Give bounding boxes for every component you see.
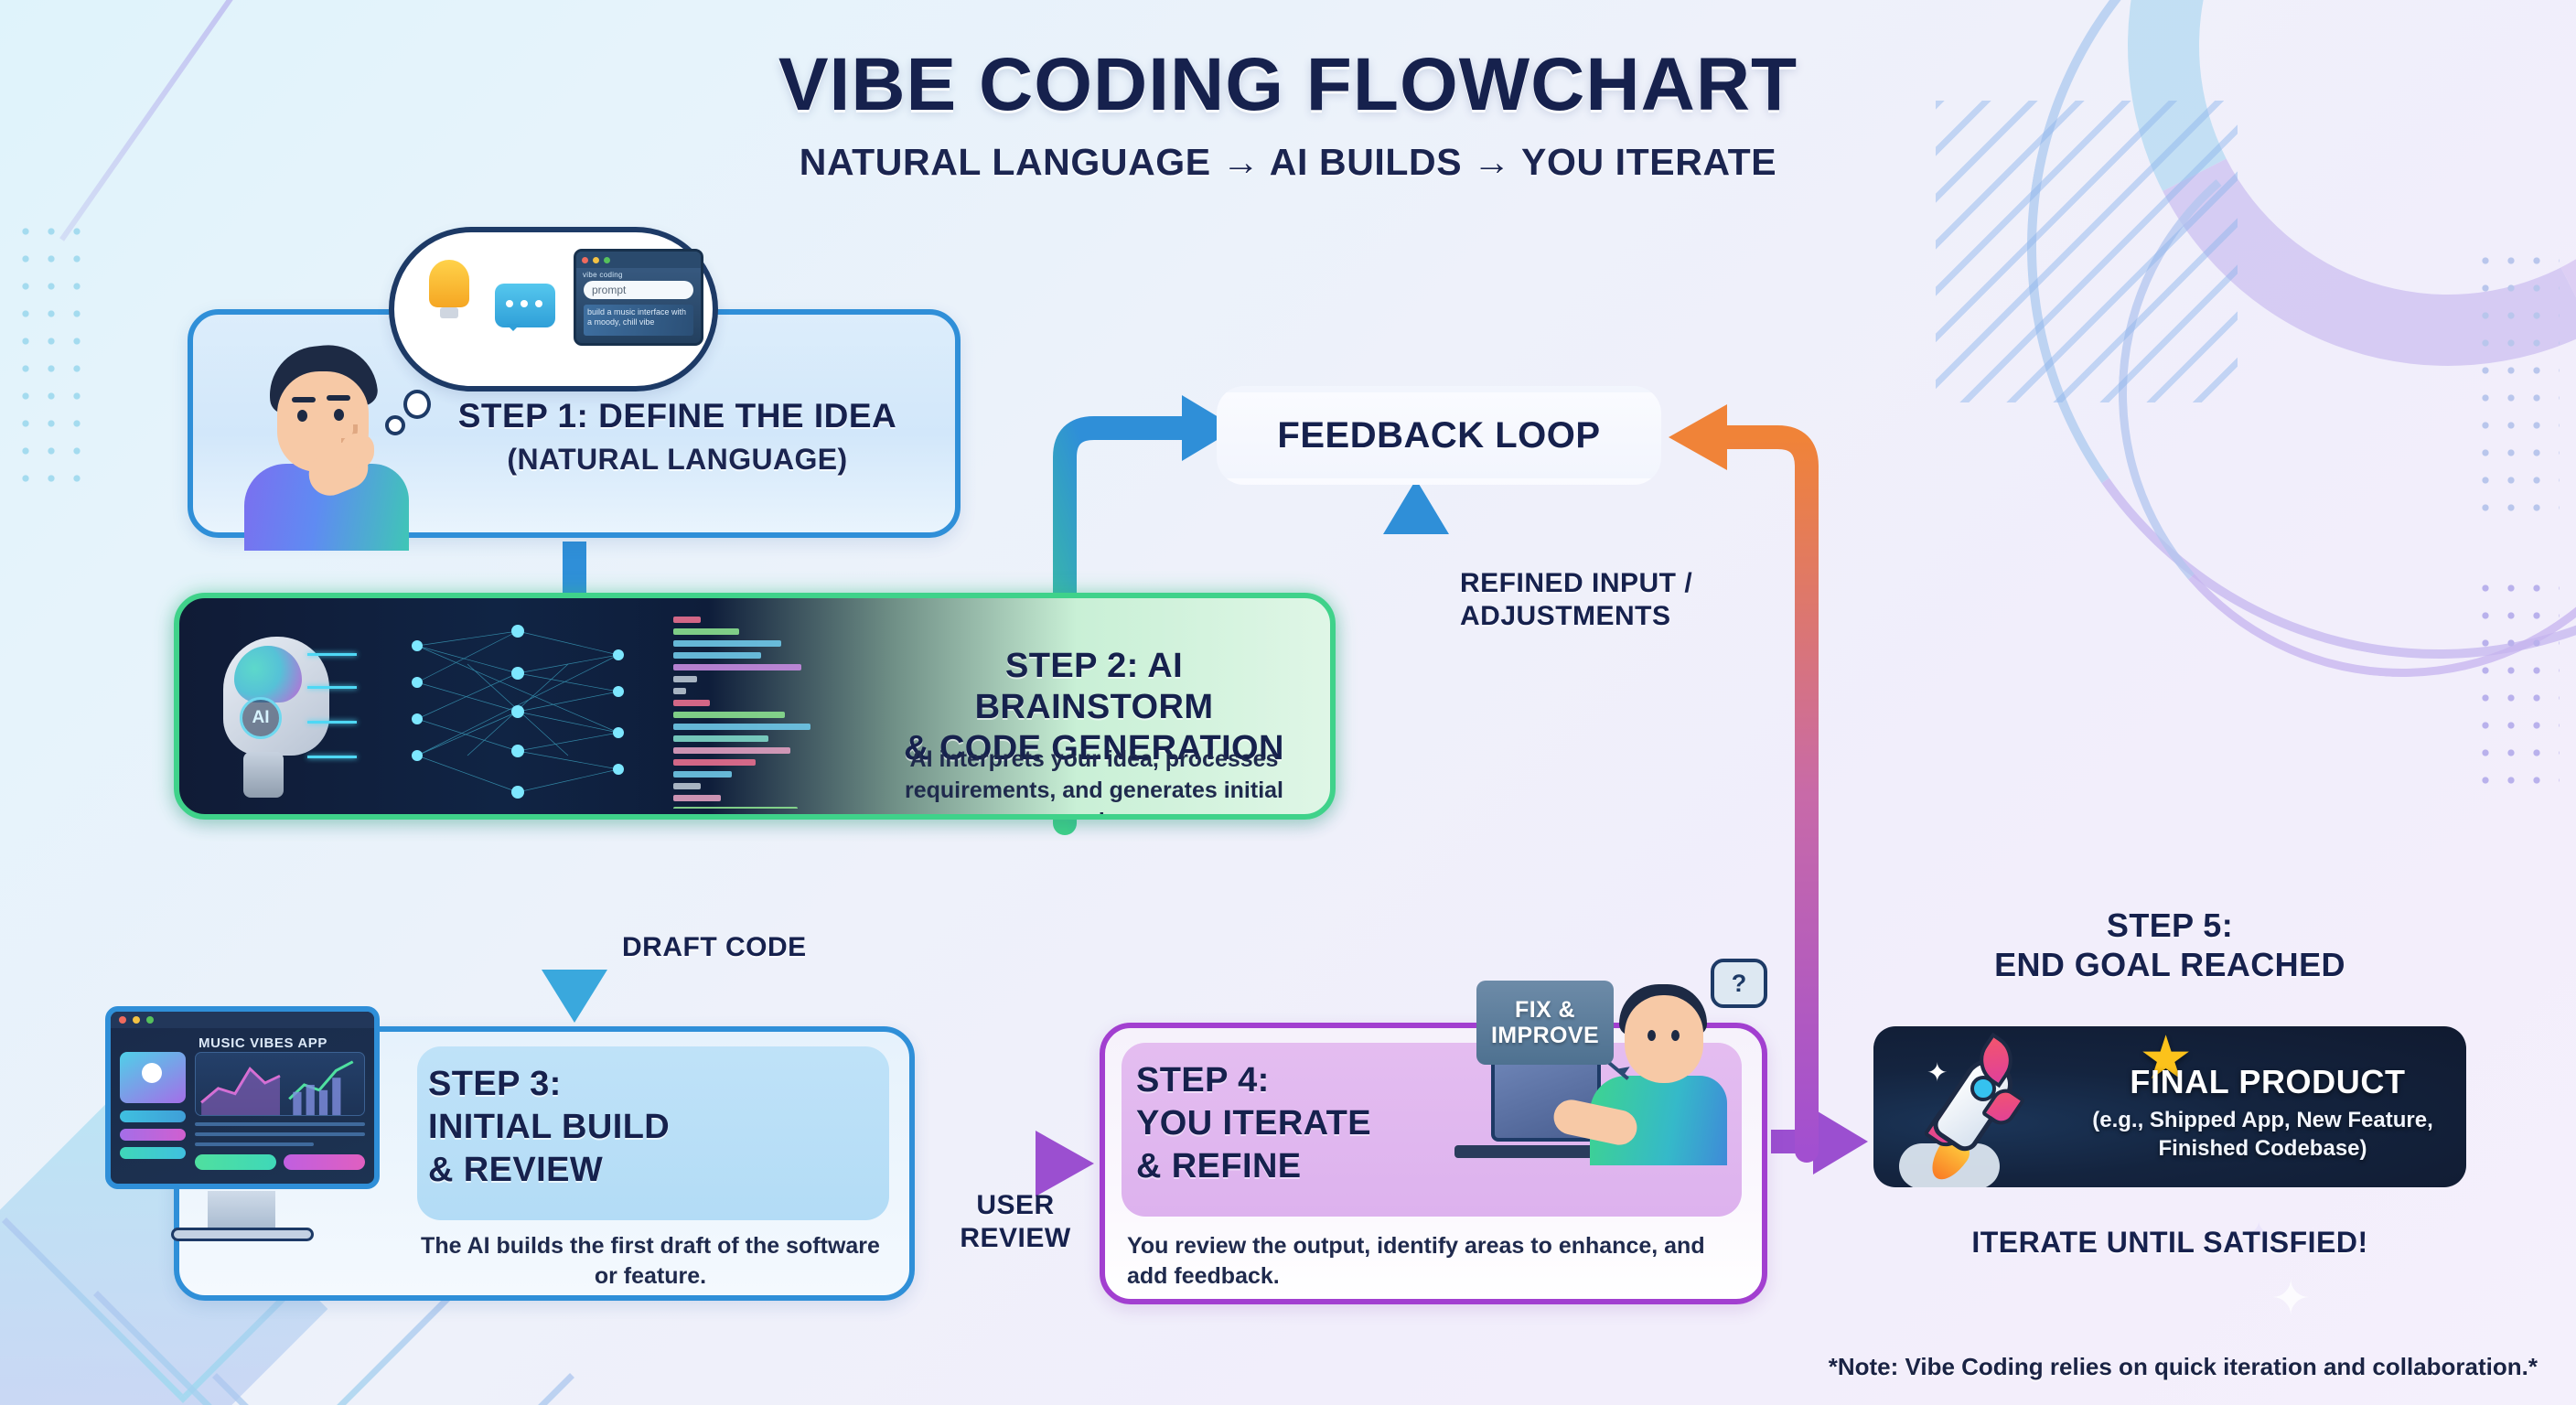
edge-label-refined-line-1: REFINED INPUT / [1460,568,1692,598]
app-button-secondary[interactable] [284,1154,365,1170]
step-4-description: You review the output, identify areas to… [1127,1231,1744,1292]
edge-label-refined-line-2: ADJUSTMENTS [1460,601,1671,631]
edge-label-user-review: USER REVIEW [951,1189,1079,1255]
final-product-subtitle: (e.g., Shipped App, New Feature, Finishe… [2070,1107,2455,1163]
infographic-canvas: ✦ ✦ VIBE CODING FLOWCHART NATURAL LANGUA… [0,0,2576,1405]
thinking-person-illustration [224,313,421,542]
rocket-illustration: ✦ [1894,1034,2067,1193]
person-eye-right [334,409,344,421]
thought-bubble-small-2 [403,390,431,419]
step-3-description: The AI builds the first draft of the sof… [410,1231,891,1292]
app-buttons [195,1154,365,1170]
step-4-title: STEP 4: YOU ITERATE & REFINE [1136,1059,1371,1188]
step-2-card[interactable]: AI [174,593,1336,820]
lightbulb-icon [429,260,469,307]
prompt-input[interactable]: prompt [584,281,693,299]
prompt-window-titlebar [576,252,701,268]
feedback-loop-title: FEEDBACK LOOP [1223,392,1655,478]
app-button-primary[interactable] [195,1154,276,1170]
ai-badge: AI [240,697,282,739]
question-bubble: ? [1711,959,1767,1008]
step-5-box: ✦ ★ FINAL PRODUCT (e.g., Shipped App, Ne… [1868,1021,2472,1193]
connector-step3-to-step4 [918,1131,1094,1196]
step-3-card[interactable]: STEP 3: INITIAL BUILD & REVIEW The AI bu… [174,1026,915,1301]
edge-label-refined-input: REFINED INPUT / ADJUSTMENTS [1460,567,1692,633]
step-3-title: STEP 3: INITIAL BUILD & REVIEW [428,1063,882,1192]
person-hand [341,434,374,468]
step-3-title-line-3: & REVIEW [428,1151,603,1189]
chat-dots [506,300,542,307]
person-eye-left [297,410,307,422]
prompt-output-text: build a music interface with a moody, ch… [584,305,693,336]
app-main-panel [195,1052,365,1170]
feedback-loop-box: FEEDBACK LOOP [1217,386,1661,485]
edge-label-user-review-line-1: USER [976,1190,1054,1220]
app-titlebar [111,1012,374,1028]
connector-step2-to-step3 [542,825,607,1023]
developer-eye-left [1648,1030,1656,1041]
person-brow-left [292,397,316,402]
footnote: *Note: Vibe Coding relies on quick itera… [1829,1353,2538,1381]
page-header: VIBE CODING FLOWCHART NATURAL LANGUAGE →… [0,42,2576,184]
decorative-sparkle-icon: ✦ [2270,1275,2311,1323]
step-5-card[interactable]: ✦ ★ FINAL PRODUCT (e.g., Shipped App, Ne… [1868,1021,2472,1193]
step-5-heading-line-2: END GOAL REACHED [1994,946,2345,983]
rocket-sparkle-icon: ✦ [1927,1057,1948,1088]
prompt-window[interactable]: vibe coding prompt build a music interfa… [574,249,703,346]
step-2-box: AI [174,593,1336,820]
step-5-footer: ITERATE UNTIL SATISFIED! [1868,1226,2472,1260]
page-title: VIBE CODING FLOWCHART [0,42,2576,128]
app-chart [195,1052,365,1116]
circuit-lines [307,644,362,781]
chart-svg [196,1053,364,1115]
prompt-window-label: vibe coding [576,268,701,281]
monitor-illustration: MUSIC VIBES APP [105,1006,398,1299]
step-5-heading-line-1: STEP 5: [2107,906,2233,944]
app-sidebar [120,1052,186,1165]
step-4-title-line-1: STEP 4: [1136,1061,1270,1099]
monitor-base [171,1228,314,1241]
feedback-loop-card[interactable]: FEEDBACK LOOP [1217,386,1661,485]
step-4-title-line-2: YOU ITERATE [1136,1104,1371,1142]
page-subtitle: NATURAL LANGUAGE → AI BUILDS → YOU ITERA… [0,141,2576,184]
step-1-subtitle: (NATURAL LANGUAGE) [422,443,933,477]
fix-and-improve-bubble: FIX & IMPROVE [1476,981,1614,1065]
monitor-stand [208,1191,275,1229]
edge-label-draft-code: DRAFT CODE [622,931,807,964]
rocket-window [1970,1076,1996,1101]
thought-bubble-small-1 [385,415,405,435]
neural-network-svg [381,618,655,806]
step-3-title-line-1: STEP 3: [428,1065,562,1103]
developer-head [1625,995,1703,1083]
avatar [120,1052,186,1103]
step-1-card[interactable]: STEP 1: DEFINE THE IDEA (NATURAL LANGUAG… [188,309,961,538]
app-text-rows [195,1122,365,1146]
developer-illustration: ? FIX & IMPROVE [1473,959,1775,1233]
step-4-title-line-3: & REFINE [1136,1147,1302,1185]
decorative-dot-grid-right-upper [2473,247,2560,521]
connector-step4-to-step5 [1771,1109,1868,1174]
decorative-dot-grid-left [13,218,95,492]
monitor-screen: MUSIC VIBES APP [105,1006,380,1189]
app-name-label: MUSIC VIBES APP [199,1035,327,1051]
developer-eye-right [1671,1030,1680,1041]
final-product-title: FINAL PRODUCT [2084,1063,2452,1101]
code-lines-graphic [673,617,884,809]
step-3-title-line-2: INITIAL BUILD [428,1108,670,1146]
person-brow-right [327,395,350,401]
step-5-heading: STEP 5: END GOAL REACHED [1868,906,2472,984]
chat-bubble-icon [495,284,555,327]
step-1-title: STEP 1: DEFINE THE IDEA [422,397,933,435]
step-4-card[interactable]: STEP 4: YOU ITERATE & REFINE You review … [1100,1023,1767,1304]
connector-step4-to-feedback [1383,479,1449,1023]
robot-neck [243,752,284,798]
decorative-dot-grid-right-lower [2473,574,2560,794]
step-2-title-line-1: STEP 2: AI BRAINSTORM [975,647,1214,726]
step-2-description: AI interprets your idea, processes requi… [884,745,1304,820]
neural-network-graphic [381,618,655,806]
thought-bubble-cloud: vibe coding prompt build a music interfa… [389,227,718,391]
edge-label-user-review-line-2: REVIEW [960,1223,1070,1253]
